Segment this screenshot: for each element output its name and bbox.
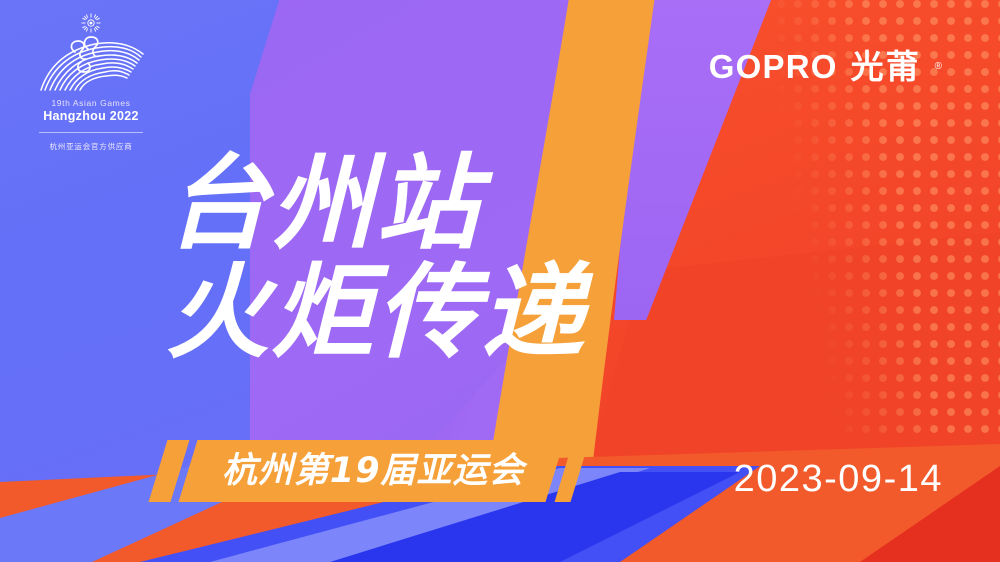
headline-line-2-text: 火炬传递	[166, 253, 586, 373]
promo-poster: 19th Asian Games Hangzhou 2022 杭州亚运会官方供应…	[0, 0, 1000, 562]
headline-line-1-text: 台州站	[166, 144, 481, 264]
subtitle-banner: 杭州第19届亚运会	[158, 440, 580, 502]
registered-mark-icon: ®	[935, 61, 942, 72]
subtitle-text: 杭州第19届亚运会	[222, 454, 525, 489]
headline-block: 台州站 台州站 火炬传递 火炬传递	[166, 152, 586, 366]
event-date: 2023-09-14	[734, 460, 943, 498]
asian-games-english-large: Hangzhou 2022	[16, 109, 166, 123]
hangzhou-wave-emblem-icon	[33, 32, 149, 94]
brand-logo: GOPRO 光莆 ®	[709, 50, 942, 83]
sun-emblem-icon	[80, 12, 102, 34]
asian-games-logo: 19th Asian Games Hangzhou 2022 杭州亚运会官方供应…	[16, 8, 166, 158]
asian-games-divider	[39, 132, 143, 133]
headline-line-1: 台州站 台州站	[166, 152, 586, 257]
asian-games-supplier-text: 杭州亚运会官方供应商	[16, 141, 166, 152]
brand-name-cn: 光莆	[851, 50, 921, 83]
asian-games-english-small: 19th Asian Games	[16, 98, 166, 108]
headline-line-2: 火炬传递 火炬传递	[166, 261, 586, 366]
subtitle-band: 杭州第19届亚运会	[179, 440, 565, 502]
brand-name-en: GOPRO	[709, 50, 838, 83]
